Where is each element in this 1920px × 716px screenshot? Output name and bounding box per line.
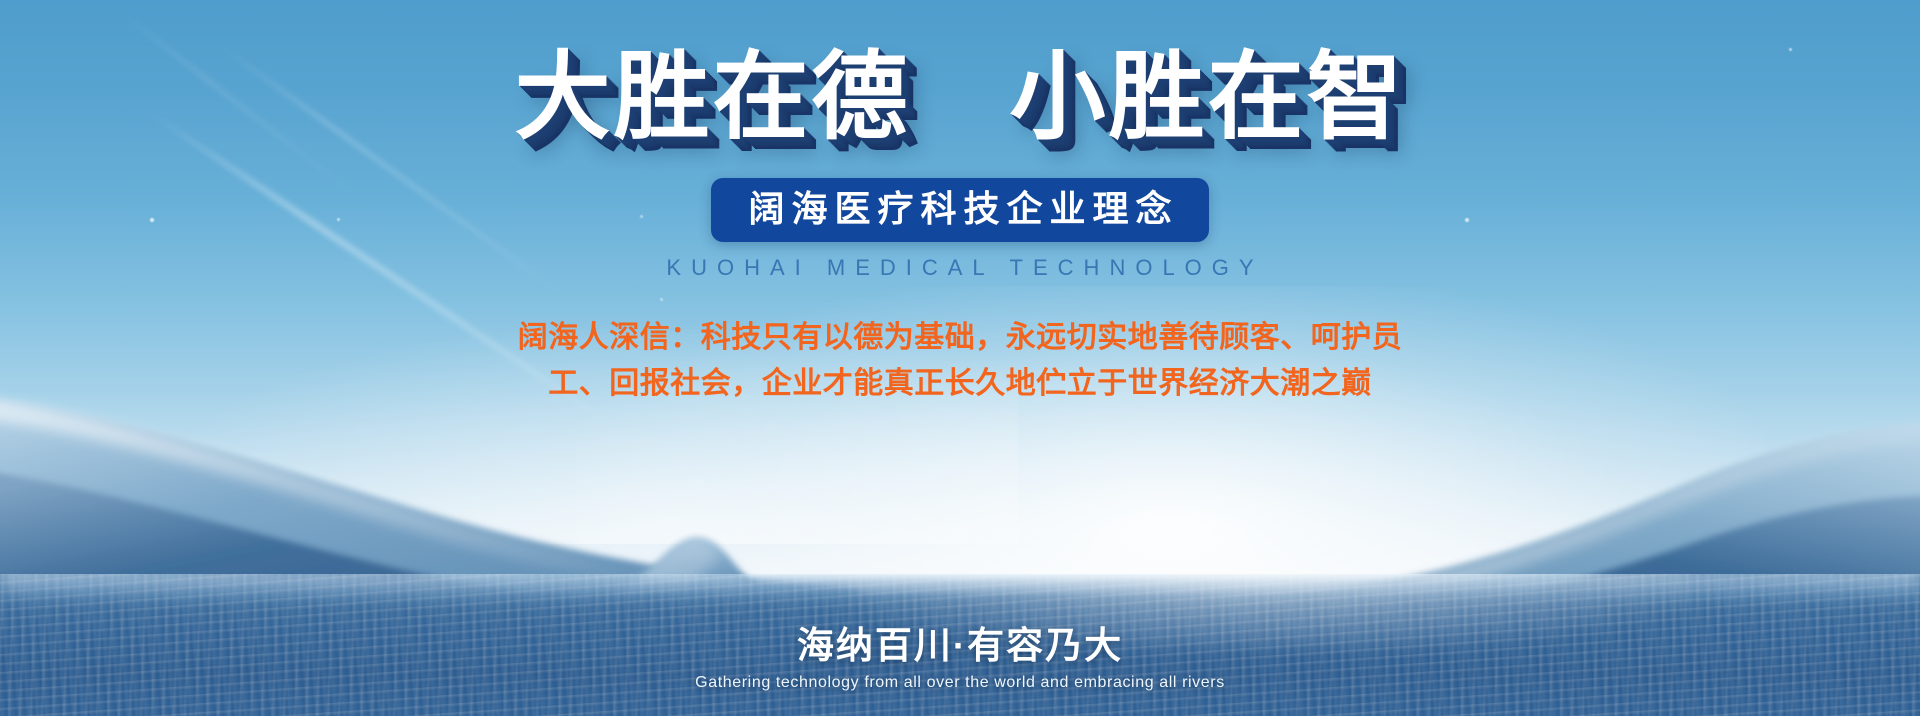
page-title: 大胜在德 小胜在智 bbox=[515, 46, 1406, 150]
english-subtitle: KUOHAI MEDICAL TECHNOLOGY bbox=[656, 255, 1263, 281]
badge-label: 阔海医疗科技企业理念 bbox=[741, 189, 1178, 229]
paragraph-line: 阔海人深信：科技只有以德为基础，永远切实地善待顾客、呵护员 bbox=[445, 315, 1475, 361]
banner-content: 大胜在德 小胜在智 阔海医疗科技企业理念 KUOHAI MEDICAL TECH… bbox=[0, 0, 1920, 716]
status-badge: 阔海医疗科技企业理念 bbox=[711, 178, 1208, 243]
paragraph-line: 工、回报社会，企业才能真正长久地伫立于世界经济大潮之巅 bbox=[445, 361, 1475, 407]
hero-banner: 大胜在德 小胜在智 阔海医疗科技企业理念 KUOHAI MEDICAL TECH… bbox=[0, 0, 1920, 716]
philosophy-paragraph: 阔海人深信：科技只有以德为基础，永远切实地善待顾客、呵护员 工、回报社会，企业才… bbox=[445, 315, 1475, 406]
